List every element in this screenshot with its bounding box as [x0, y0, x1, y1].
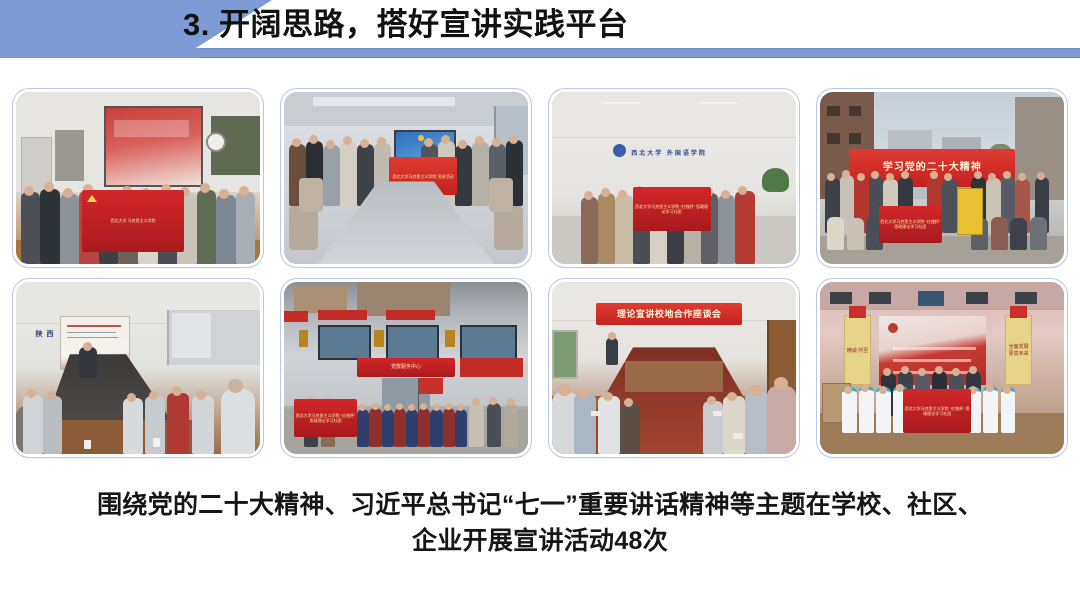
caption-line-1: 围绕党的二十大精神、习近平总书记“七一”重要讲话精神等主题在学校、社区、: [40, 488, 1040, 524]
gallery-photo-8[interactable]: 精诚 所至 全面发展 更高未来: [820, 282, 1064, 454]
photo-7-banner-text: 理论宣讲校地合作座谈会: [617, 308, 722, 320]
header-accent-bar-left: [0, 48, 200, 58]
photo-4-sub-banner-text: 西北大学马克思主义学院 “红烛杯” 思政理论学习社团: [880, 219, 941, 230]
gallery-photo-1[interactable]: 西北大学 马克思主义学院: [16, 92, 260, 264]
photo-6-banner-text: 西北大学马克思主义学院 “红烛杯” 思政理论学习社团: [295, 413, 356, 424]
photo-1-banner-text: 西北大学 马克思主义学院: [111, 218, 156, 223]
photo-8-image: 精诚 所至 全面发展 更高未来: [820, 282, 1064, 454]
photo-6-image: 党群服务中心: [284, 282, 528, 454]
photo-1-image: 西北大学 马克思主义学院: [16, 92, 260, 264]
gallery-photo-4[interactable]: 学习党的二十大精神: [820, 92, 1064, 264]
photo-2-image: 西北大学马克思主义学院 宣讲活动: [284, 92, 528, 264]
caption-line-2: 企业开展宣讲活动48次: [40, 524, 1040, 560]
gallery-photo-7[interactable]: 理论宣讲校地合作座谈会: [552, 282, 796, 454]
photo-8-banner-text: 西北大学马克思主义学院 “红烛杯” 思政理论学习社团: [904, 406, 970, 417]
photo-3-banner-text: 西北大学马克思主义学院 “红烛杯” 思政理论学习社团: [634, 204, 710, 215]
gallery-photo-6[interactable]: 党群服务中心: [284, 282, 528, 454]
photo-5-image: 陕西 有限公司: [16, 282, 260, 454]
photo-row-2: 陕西 有限公司: [16, 282, 1064, 454]
slide-caption: 围绕党的二十大精神、习近平总书记“七一”重要讲话精神等主题在学校、社区、 企业开…: [40, 488, 1040, 559]
photo-6-building-sign: 党群服务中心: [391, 364, 421, 371]
gallery-photo-3[interactable]: 西北大学 外国语学院: [552, 92, 796, 264]
page-title: 3. 开阔思路，搭好宣讲实践平台: [183, 2, 628, 48]
photo-7-image: 理论宣讲校地合作座谈会: [552, 282, 796, 454]
photo-row-1: 西北大学 马克思主义学院: [16, 92, 1064, 264]
photo-3-wall-text: 西北大学 外国语学院: [631, 148, 707, 157]
photo-3-image: 西北大学 外国语学院: [552, 92, 796, 264]
gallery-photo-2[interactable]: 西北大学马克思主义学院 宣讲活动: [284, 92, 528, 264]
photo-2-banner-text: 西北大学马克思主义学院 宣讲活动: [393, 174, 454, 179]
slide-header: 3. 开阔思路，搭好宣讲实践平台: [0, 0, 1080, 60]
gallery-photo-5[interactable]: 陕西 有限公司: [16, 282, 260, 454]
photo-gallery: 西北大学 马克思主义学院: [16, 92, 1064, 462]
photo-4-image: 学习党的二十大精神: [820, 92, 1064, 264]
